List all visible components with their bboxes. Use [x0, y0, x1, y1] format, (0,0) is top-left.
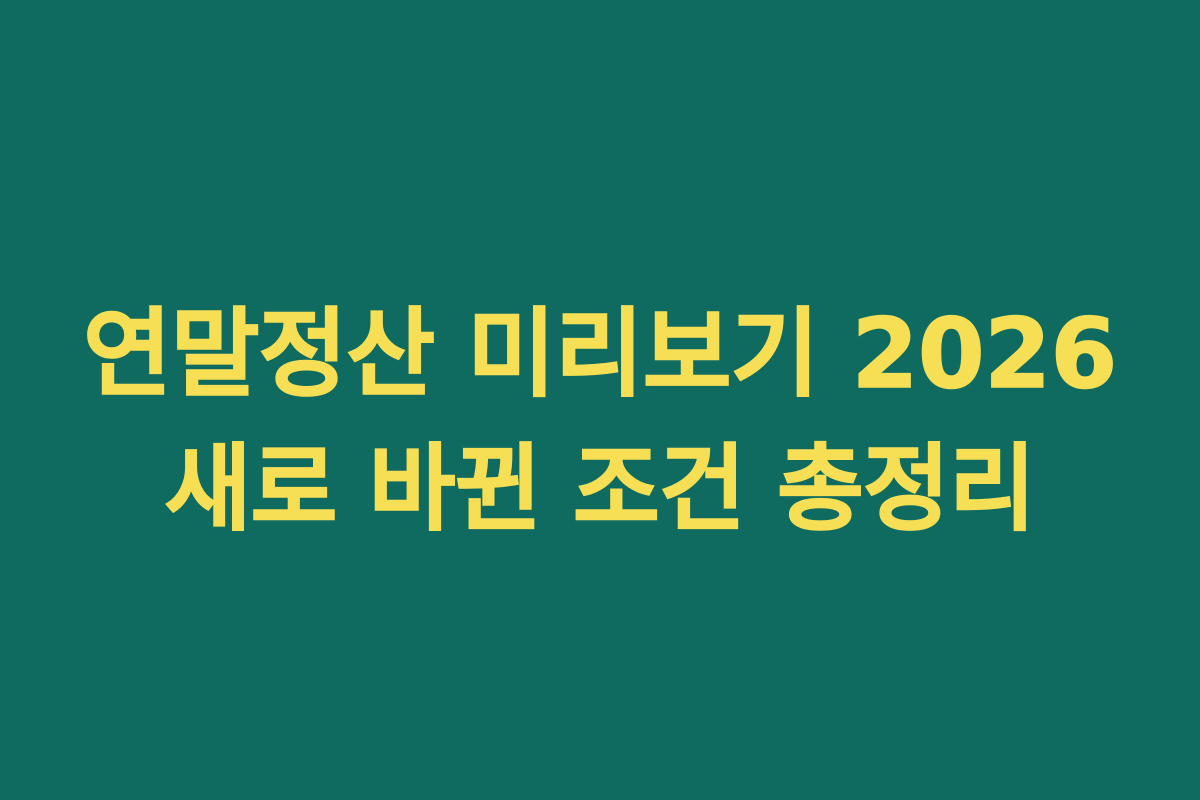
- thumbnail-card: 연말정산 미리보기 2026 새로 바뀐 조건 총정리: [0, 0, 1200, 800]
- headline-line-1: 연말정산 미리보기 2026: [0, 287, 1200, 422]
- headline-line-2: 새로 바뀐 조건 총정리: [0, 422, 1200, 557]
- headline-block: 연말정산 미리보기 2026 새로 바뀐 조건 총정리: [0, 287, 1200, 557]
